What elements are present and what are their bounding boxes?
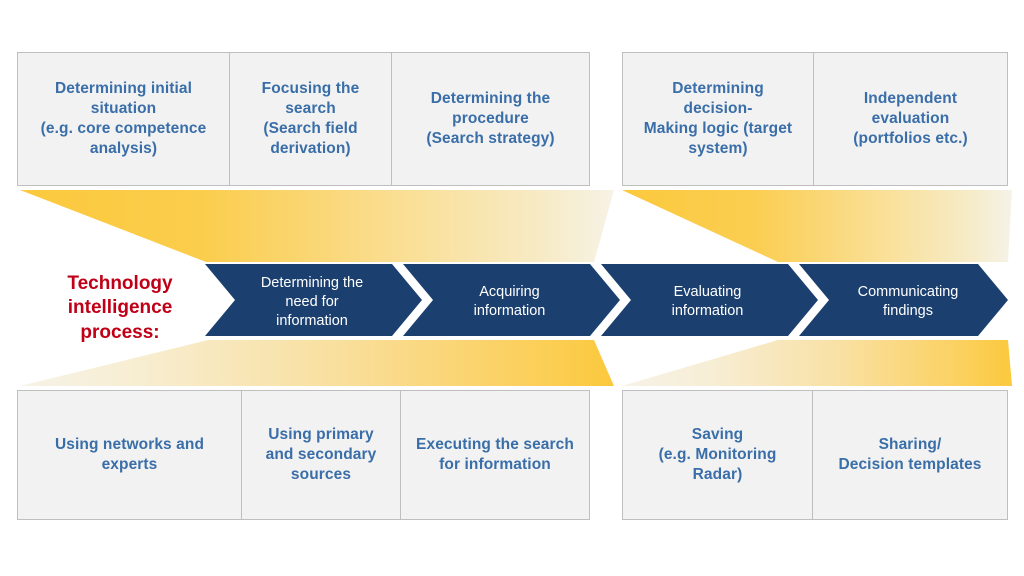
box-label: Using primary and secondary sources — [266, 425, 377, 485]
bottom-box-sharing-decision-templates[interactable]: Sharing/ Decision templates — [812, 390, 1008, 520]
chevron-1[interactable] — [205, 264, 422, 336]
bottom-box-executing-the-search[interactable]: Executing the search for information — [400, 390, 590, 520]
box-label: Determining initial situation (e.g. core… — [41, 79, 207, 160]
box-label: Focusing the search (Search field deriva… — [262, 79, 360, 160]
chevron-3[interactable] — [601, 264, 818, 336]
chevron-4[interactable] — [799, 264, 1008, 336]
box-label: Determining decision- Making logic (targ… — [644, 79, 792, 160]
bottom-box-using-networks-and-experts[interactable]: Using networks and experts — [17, 390, 242, 520]
box-label: Saving (e.g. Monitoring Radar) — [659, 425, 777, 485]
bottom-right-box-group: Saving (e.g. Monitoring Radar) Sharing/ … — [622, 390, 1008, 520]
top-box-determining-the-procedure[interactable]: Determining the procedure (Search strate… — [391, 52, 590, 186]
box-label: Using networks and experts — [55, 435, 204, 475]
top-left-box-group: Determining initial situation (e.g. core… — [17, 52, 590, 186]
top-box-determining-decision-making-logic[interactable]: Determining decision- Making logic (targ… — [622, 52, 814, 186]
bottom-box-using-primary-and-secondary-sources[interactable]: Using primary and secondary sources — [241, 390, 401, 520]
chevron-2[interactable] — [403, 264, 620, 336]
diagram-canvas: Determining the need for information Acq… — [0, 0, 1024, 576]
box-label: Sharing/ Decision templates — [838, 435, 981, 475]
top-box-focusing-the-search[interactable]: Focusing the search (Search field deriva… — [229, 52, 392, 186]
box-label: Determining the procedure (Search strate… — [426, 89, 554, 149]
top-box-independent-evaluation[interactable]: Independent evaluation (portfolios etc.) — [813, 52, 1008, 186]
bottom-box-saving[interactable]: Saving (e.g. Monitoring Radar) — [622, 390, 813, 520]
box-label: Independent evaluation (portfolios etc.) — [853, 89, 968, 149]
top-right-box-group: Determining decision- Making logic (targ… — [622, 52, 1008, 186]
process-title-label: Technology intelligence process: — [40, 272, 200, 345]
bottom-left-box-group: Using networks and experts Using primary… — [17, 390, 590, 520]
top-box-determining-initial-situation[interactable]: Determining initial situation (e.g. core… — [17, 52, 230, 186]
box-label: Executing the search for information — [416, 435, 574, 475]
